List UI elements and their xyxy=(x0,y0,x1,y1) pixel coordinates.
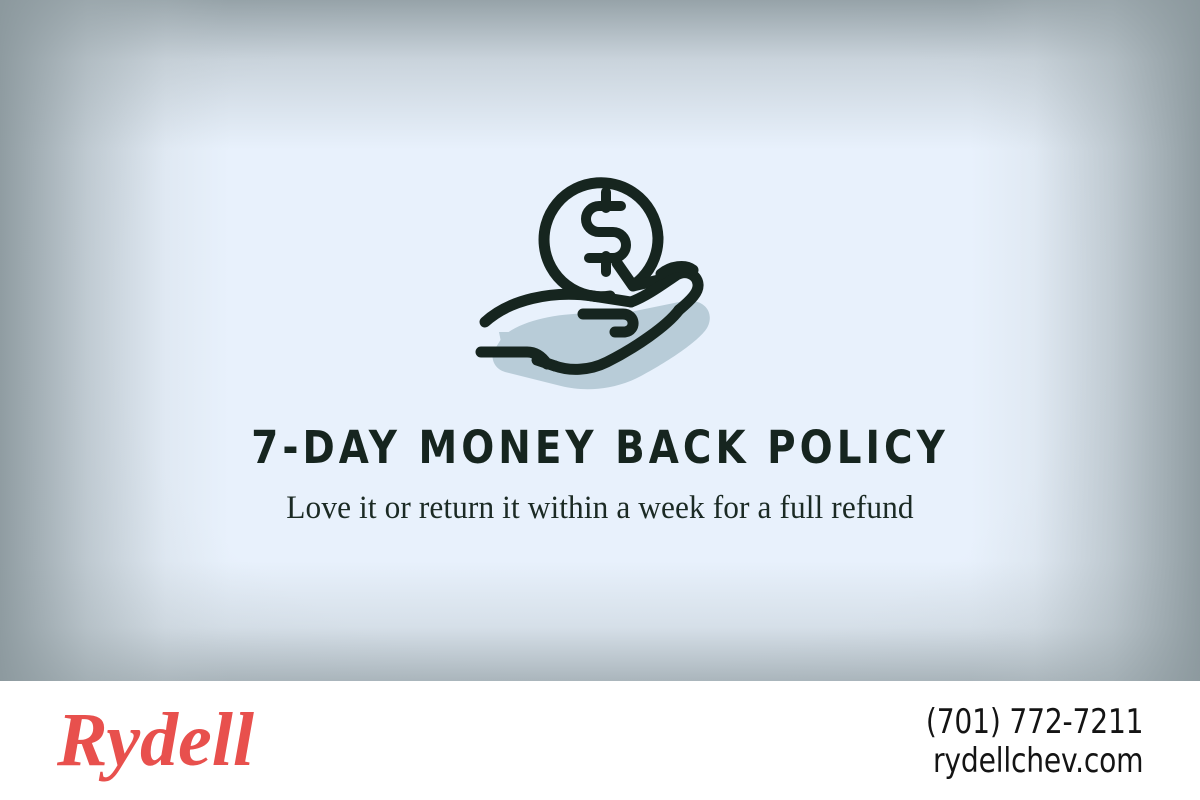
footer-bar: Rydell (701) 772-7211 rydellchev.com xyxy=(0,681,1200,800)
dollar-sign-icon xyxy=(586,192,626,272)
promo-text-block: 7-DAY MONEY BACK POLICY Love it or retur… xyxy=(0,424,1200,530)
phone-number[interactable]: (701) 772-7211 xyxy=(926,703,1143,741)
page-title: 7-DAY MONEY BACK POLICY xyxy=(139,424,1061,472)
rydell-logo-wordmark: Rydell xyxy=(57,701,254,782)
contact-info: (701) 772-7211 rydellchev.com xyxy=(907,703,1143,779)
promo-subtitle: Love it or return it within a week for a… xyxy=(272,488,928,530)
rydell-logo[interactable]: Rydell xyxy=(57,701,300,785)
money-back-hand-icon xyxy=(465,150,735,400)
website-url[interactable]: rydellchev.com xyxy=(926,742,1143,780)
hero-panel: 7-DAY MONEY BACK POLICY Love it or retur… xyxy=(0,0,1200,681)
icon-container xyxy=(0,150,1200,400)
promo-card: 7-DAY MONEY BACK POLICY Love it or retur… xyxy=(0,0,1200,800)
